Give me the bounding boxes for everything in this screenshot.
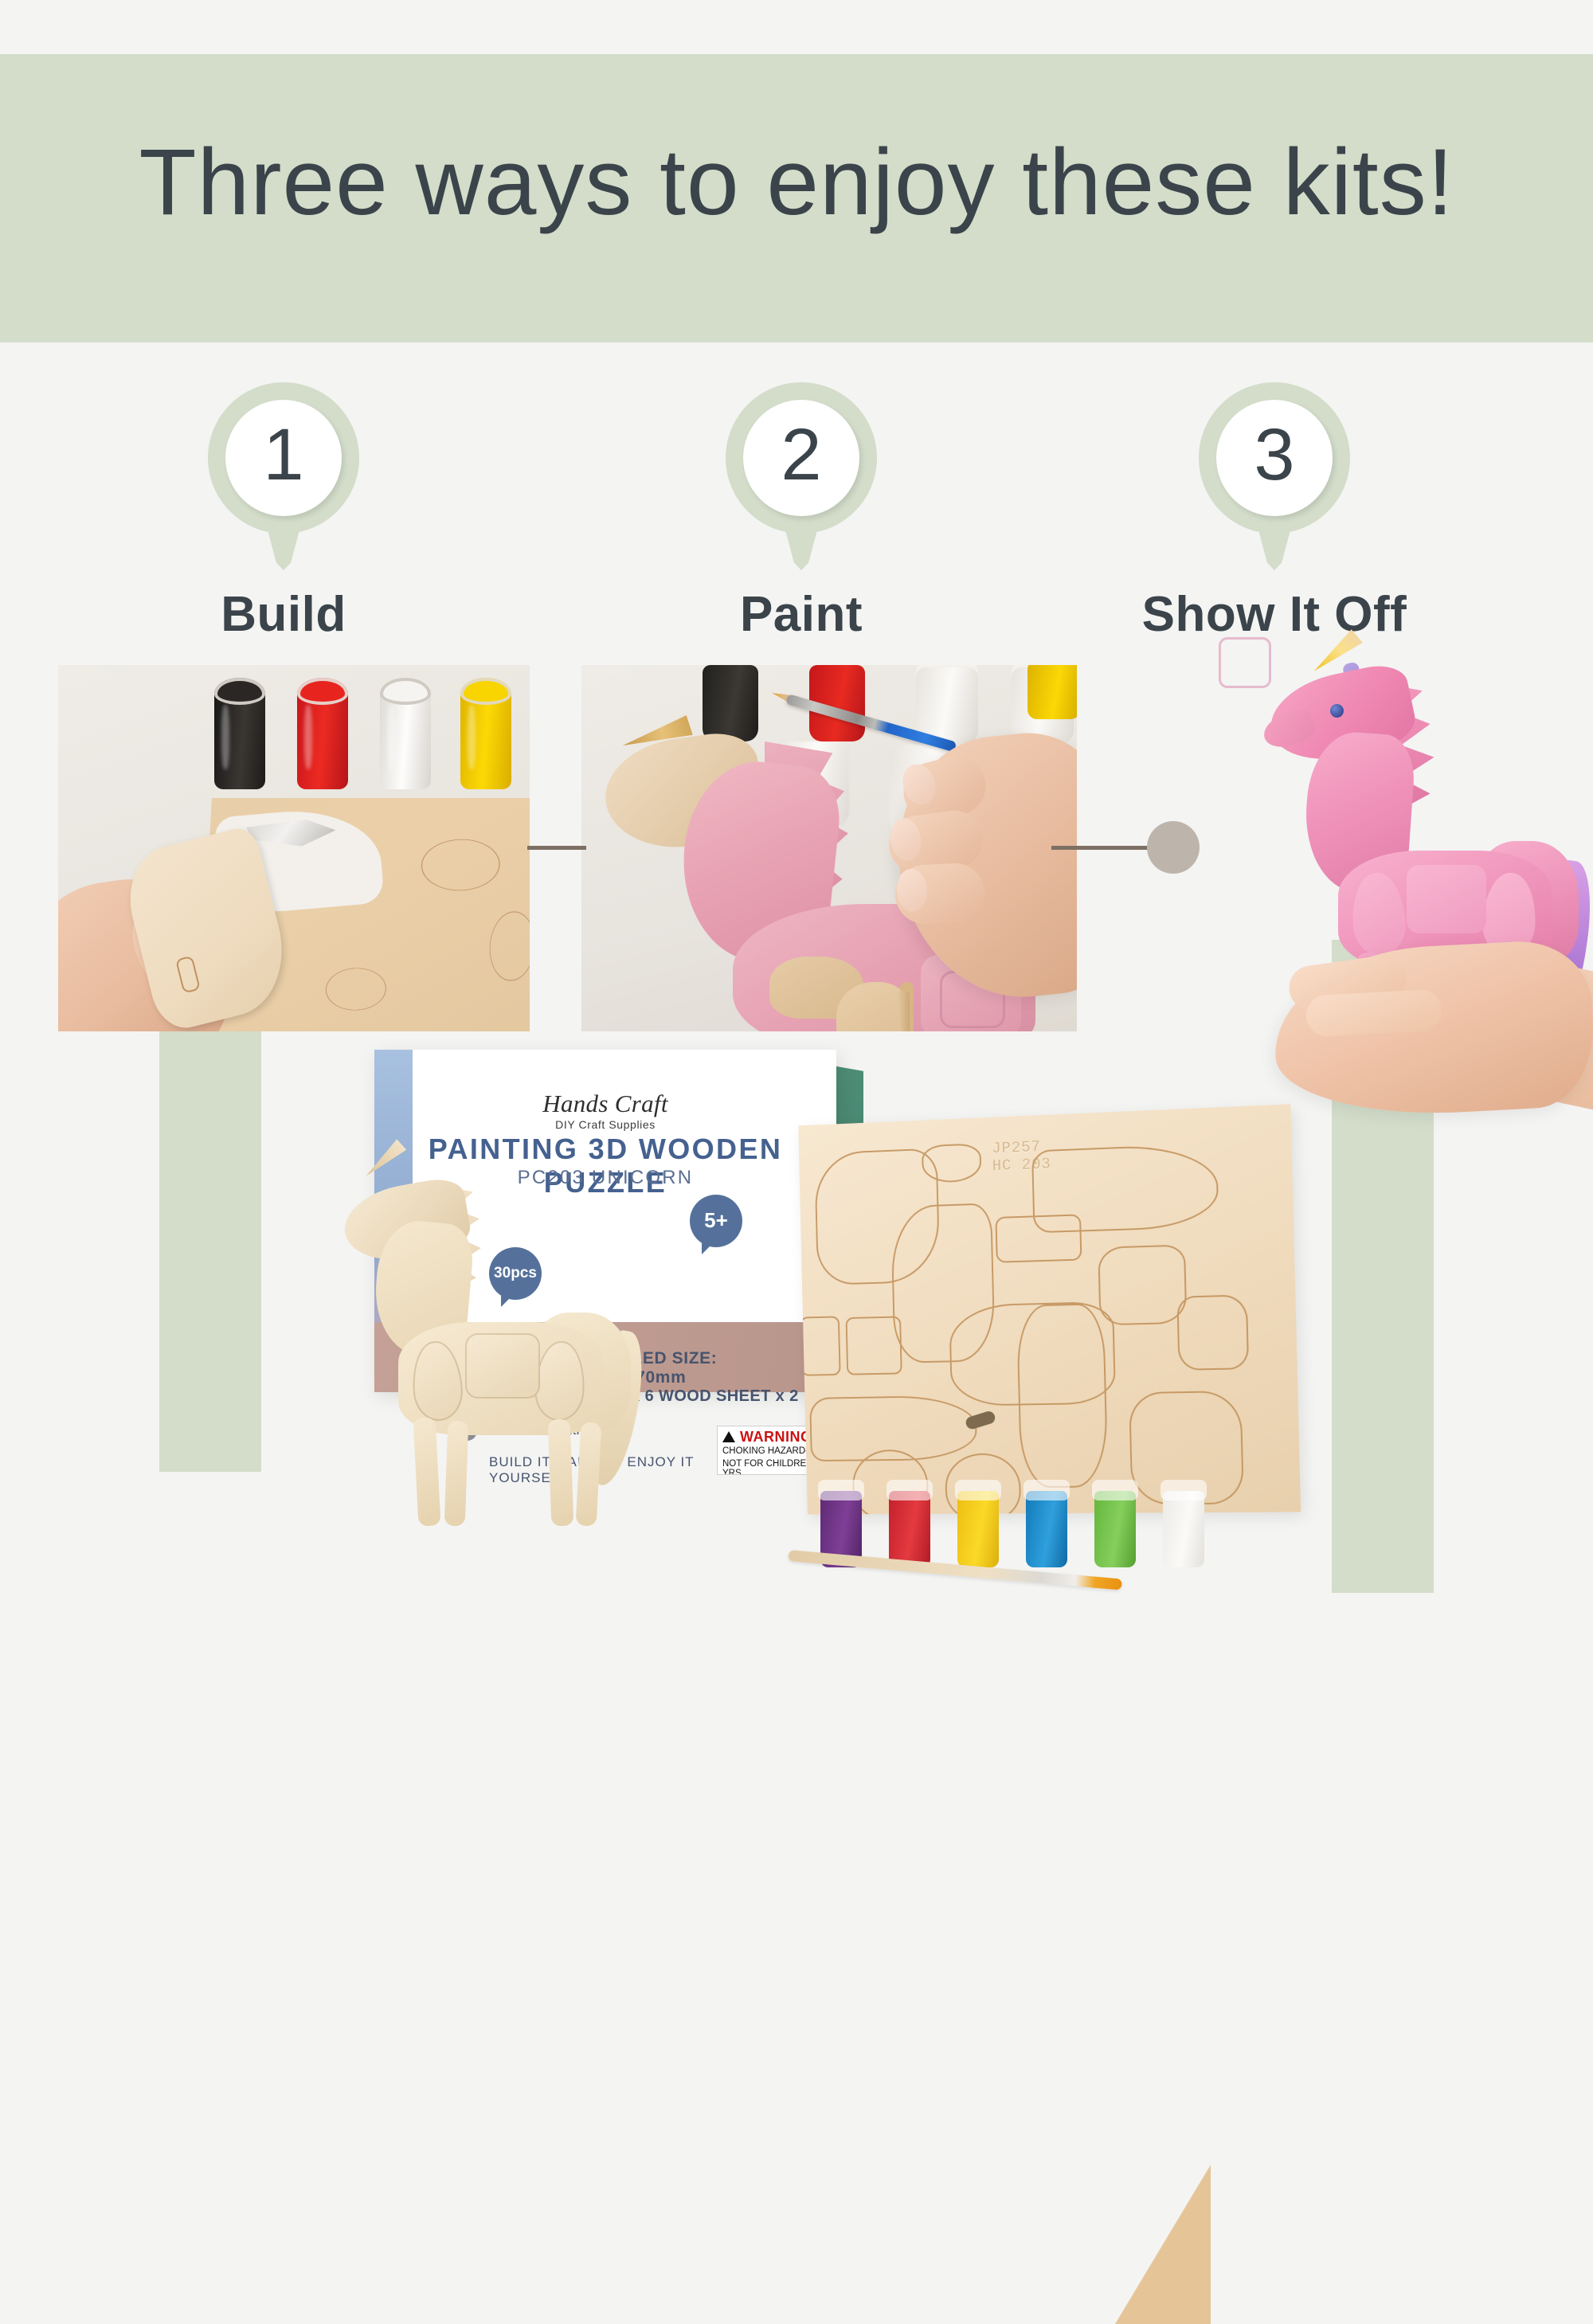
pin-marker-icon: 1 — [208, 382, 359, 565]
step-label-paint: Paint — [626, 586, 977, 643]
pin-inner-circle: 1 — [225, 400, 342, 516]
paint-pot-yellow — [957, 1491, 999, 1567]
die-cut-shape — [1098, 1244, 1187, 1325]
pieces-badge-count: 30 — [494, 1266, 511, 1281]
paint-pot-green — [1094, 1491, 1136, 1567]
photo-step-paint: Hand painting the assembled wooden unico… — [581, 665, 1077, 1031]
paint-pot-black — [703, 665, 758, 741]
die-cut-shape — [922, 1143, 982, 1183]
wood-unicorn-leg — [444, 1421, 469, 1527]
connector-dot — [1147, 821, 1200, 874]
page-title: Three ways to enjoy these kits! — [0, 135, 1593, 229]
paint-pot-yellow — [1027, 665, 1077, 719]
age-badge: 5+ — [690, 1195, 742, 1247]
step-1: 1 Build — [108, 382, 459, 643]
unicorn-saddle-inner — [1219, 637, 1271, 688]
pieces-badge: 30 pcs — [489, 1247, 542, 1300]
step-number: 3 — [1254, 418, 1294, 491]
wood-unicorn-leg — [548, 1419, 574, 1527]
paint-pot-red — [889, 1491, 930, 1567]
paint-pot-blue — [1026, 1491, 1067, 1567]
pieces-badge-unit: pcs — [511, 1266, 537, 1281]
plywood-sheet: JP257 HC 203 — [798, 1104, 1301, 1514]
wood-unicorn-saddle-panel — [465, 1333, 540, 1399]
die-cut-shape — [1016, 1303, 1109, 1488]
wood-unicorn-leg — [576, 1422, 602, 1526]
accent-block-left — [159, 1010, 261, 1472]
die-cut-shape — [995, 1214, 1082, 1262]
pin-inner-circle: 2 — [743, 400, 859, 516]
paint-pot-white — [1163, 1491, 1204, 1567]
pin-marker-icon: 2 — [726, 382, 877, 565]
paint-jar-red — [297, 678, 348, 789]
brand-tagline: DIY Craft Supplies — [374, 1118, 836, 1131]
warning-triangle-icon — [722, 1431, 735, 1442]
palm-finger — [1305, 989, 1442, 1038]
pin-inner-circle: 3 — [1216, 400, 1333, 516]
step-number: 1 — [263, 418, 303, 491]
step-label-build: Build — [108, 586, 459, 643]
unicorn-tab — [898, 990, 910, 1031]
paint-jar-white — [380, 678, 431, 789]
die-cut-shape — [1176, 1294, 1249, 1370]
step-number: 2 — [781, 418, 821, 491]
steps-row: 1 Build 2 Paint 3 Show It Off — [0, 382, 1593, 621]
paintbrush — [788, 1550, 1122, 1590]
connector-line-1 — [527, 846, 586, 850]
unicorn-saddle-panel — [1407, 865, 1486, 933]
step-3: 3 Show It Off — [1099, 382, 1450, 643]
connector-line-2 — [1051, 846, 1157, 850]
brand-name: Hands Craft — [374, 1090, 836, 1118]
pin-marker-icon: 3 — [1199, 382, 1350, 565]
warning-title: WARNING — [740, 1429, 812, 1446]
photo-step-build: Hand punching a wooden unicorn piece out… — [58, 665, 530, 1031]
sheet-engraving-line-1: JP257 — [992, 1138, 1041, 1157]
die-cut-shape — [846, 1316, 902, 1375]
wood-unicorn-leg — [413, 1417, 440, 1526]
step-2: 2 Paint — [626, 382, 977, 643]
paint-jar-yellow — [460, 678, 511, 789]
paint-jar-black — [214, 678, 265, 789]
unicorn-eye — [1330, 704, 1344, 718]
box-graphic-triangle — [1115, 2165, 1211, 2324]
step-label-show-it-off: Show It Off — [1099, 586, 1450, 643]
die-cut-shape — [800, 1316, 840, 1375]
